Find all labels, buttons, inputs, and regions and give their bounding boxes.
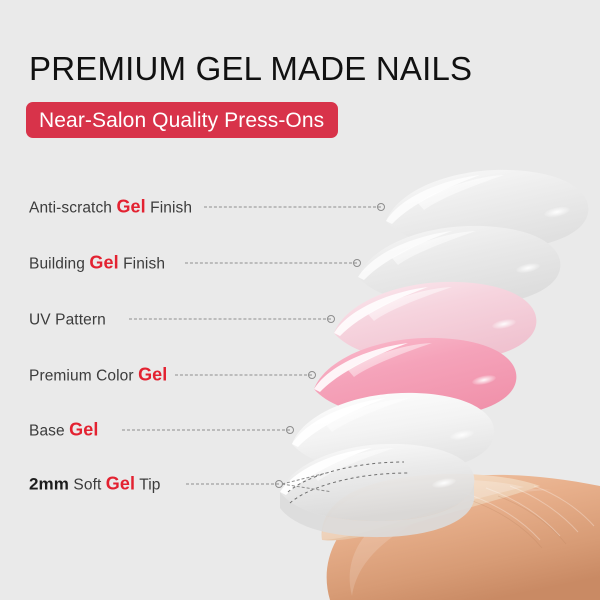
callout-row-base-gel: Base Gel <box>0 418 600 442</box>
subtitle-text: Near-Salon Quality Press-Ons <box>39 110 324 131</box>
callout-label-premium-color-gel: Premium Color Gel <box>29 365 167 386</box>
leader-line <box>129 319 331 320</box>
leader-fork-upper <box>282 472 329 485</box>
callout-pre2-text: Soft <box>69 477 106 494</box>
callout-pre-text: Building <box>29 256 89 273</box>
callout-post-text: Finish <box>146 200 192 217</box>
callout-row-uv-pattern: UV Pattern <box>0 307 600 331</box>
leader-dot <box>286 426 294 434</box>
product-infographic: PREMIUM GEL MADE NAILS Near-Salon Qualit… <box>0 0 600 600</box>
callout-pre-text: Premium Color <box>29 368 138 385</box>
callout-highlight-text: Gel <box>138 365 167 385</box>
callout-row-building-gel-finish: Building Gel Finish <box>0 251 600 275</box>
callout-highlight-text: Gel <box>106 474 135 494</box>
callout-highlight-text: Gel <box>89 253 118 273</box>
callout-label-building-gel-finish: Building Gel Finish <box>29 253 165 274</box>
callout-pre-text: Base <box>29 423 69 440</box>
leader-line <box>175 375 312 376</box>
callout-row-anti-scratch-gel-finish: Anti-scratch Gel Finish <box>0 195 600 219</box>
leader-line <box>185 263 357 264</box>
callout-highlight-text: Gel <box>69 420 98 440</box>
leader-line <box>186 484 279 485</box>
callout-pre-text: Anti-scratch <box>29 200 116 217</box>
leader-line <box>122 430 290 431</box>
leader-dot <box>377 203 385 211</box>
nail-layer-artwork <box>0 0 600 600</box>
callout-pre-text: UV Pattern <box>29 312 106 329</box>
callout-post-text: Tip <box>135 477 160 494</box>
callout-highlight-text: Gel <box>116 197 145 217</box>
callout-post-text: Finish <box>119 256 165 273</box>
callout-label-anti-scratch-gel-finish: Anti-scratch Gel Finish <box>29 197 192 218</box>
subtitle-badge: Near-Salon Quality Press-Ons <box>26 102 338 138</box>
leader-line <box>204 207 381 208</box>
leader-dot <box>308 371 316 379</box>
callout-pre-text: 2mm <box>29 475 69 494</box>
callout-row-2mm-soft-gel-tip: 2mm Soft Gel Tip <box>0 472 600 496</box>
leader-fork-lower <box>282 484 330 492</box>
callout-label-base-gel: Base Gel <box>29 420 98 441</box>
callout-row-premium-color-gel: Premium Color Gel <box>0 363 600 387</box>
callout-label-2mm-soft-gel-tip: 2mm Soft Gel Tip <box>29 474 161 495</box>
leader-dot <box>353 259 361 267</box>
callout-label-uv-pattern: UV Pattern <box>29 309 106 330</box>
leader-dot <box>327 315 335 323</box>
page-title: PREMIUM GEL MADE NAILS <box>29 50 472 88</box>
